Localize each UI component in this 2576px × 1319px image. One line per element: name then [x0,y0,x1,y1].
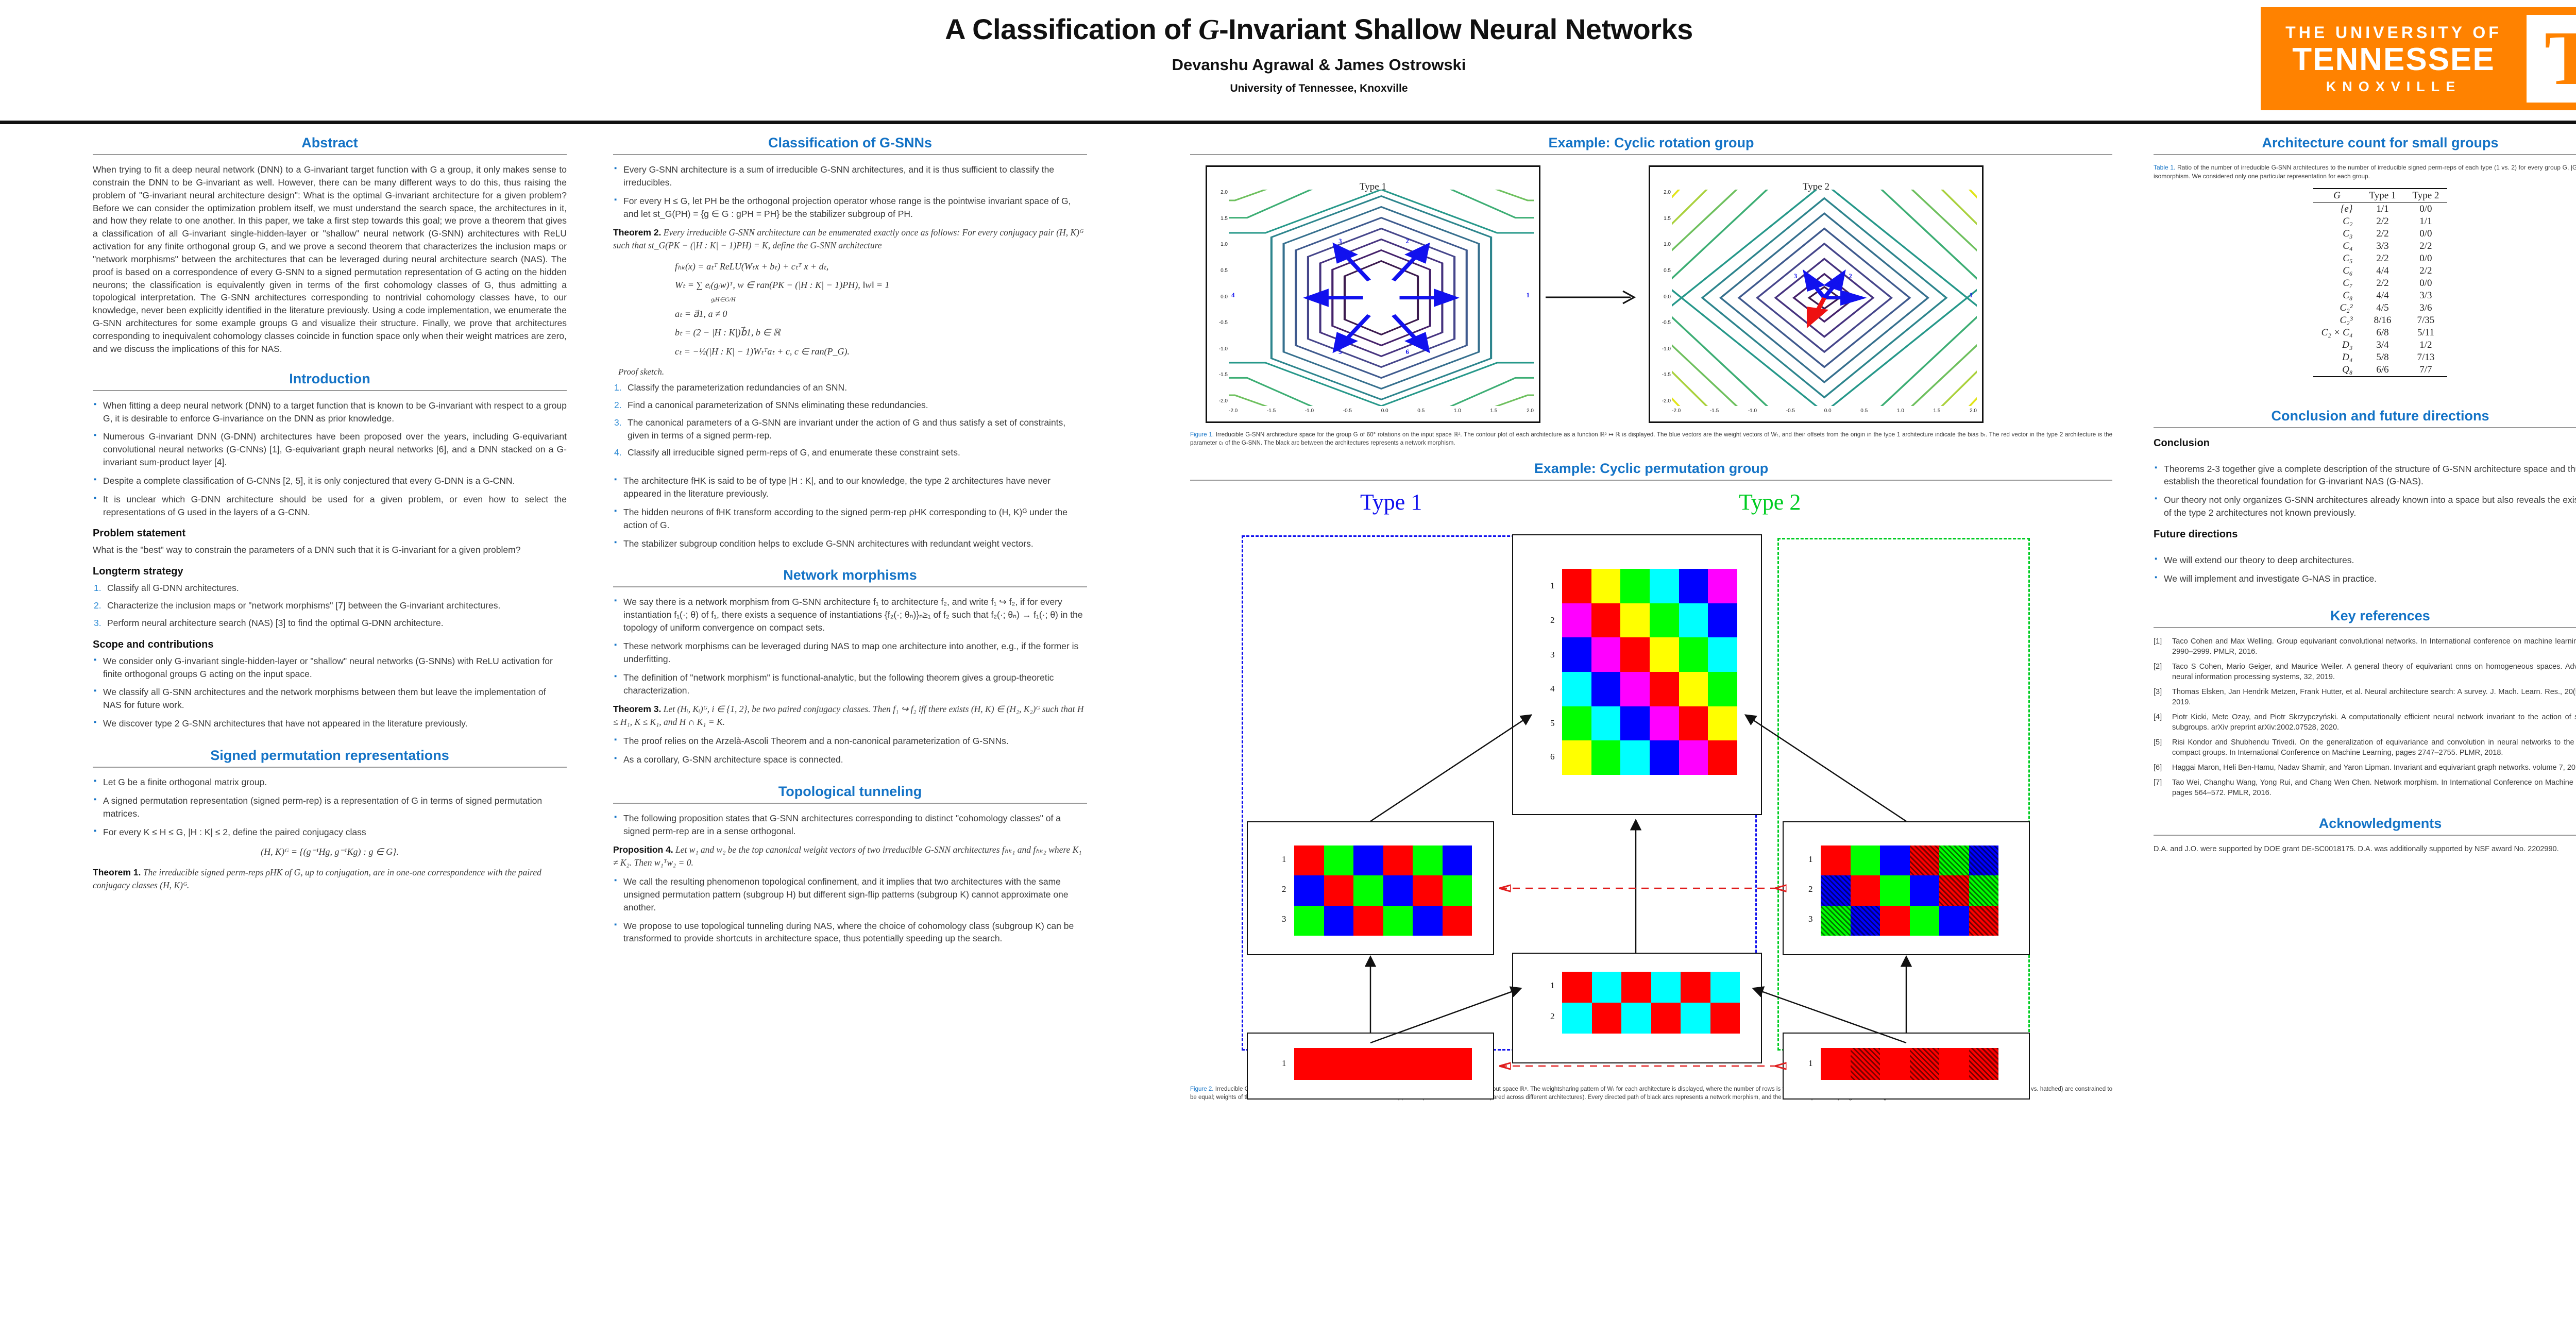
reference-item: [4]Piotr Kicki, Mete Ozay, and Piotr Skr… [2154,712,2576,733]
x-axis-ticks-plot-2: -2.0 -1.5 -1.0 -0.5 0.0 0.5 1.0 1.5 2.0 [1672,408,1977,416]
scope-bullets: We consider only G-invariant single-hidd… [93,655,567,730]
table-row: C₇2/20/0 [2313,277,2448,290]
divider [613,586,1087,587]
reference-list: [1]Taco Cohen and Max Welling. Group equ… [2154,636,2576,798]
logo-wordmark: THE UNIVERSITY OF TENNESSEE KNOXVILLE [2261,24,2527,94]
divider [613,803,1087,804]
theorem-3-text: Let (Hᵢ, Kᵢ)ᴳ, i ∈ {1, 2}, be two paired… [613,704,1083,727]
tunneling-bullets: The following proposition states that G-… [613,812,1087,838]
row-label: 1 [1282,854,1286,865]
subheading-problem-statement: Problem statement [93,528,567,539]
row-label: 2 [1550,615,1555,625]
row-label: 5 [1550,718,1555,729]
divider [2154,835,2576,836]
list-item: Classify the parameterization redundanci… [613,381,1087,394]
list-item: Numerous G-invariant DNN (G-DNN) archite… [93,430,567,469]
morphism-bullets: We say there is a network morphism from … [613,596,1087,697]
table-row: C₆4/42/2 [2313,265,2448,277]
column-header-g: G [2313,189,2361,203]
weight-grid-6x6 [1562,569,1737,775]
table-1-caption-text: Ratio of the number of irreducible G-SNN… [2154,164,2576,180]
list-item: We propose to use topological tunneling … [613,920,1087,945]
section-heading-cyclic-permutation: Example: Cyclic permutation group [1190,461,2112,477]
divider [93,154,567,155]
conclusion-bullets: Theorems 2-3 together give a complete de… [2154,463,2576,519]
weight-grid-1x6-right [1821,1048,1998,1080]
section-heading-conclusion: Conclusion and future directions [2154,408,2576,424]
section-heading-cyclic-rotation: Example: Cyclic rotation group [1190,135,2112,151]
reference-item: [6]Haggai Maron, Heli Ben-Hamu, Nadav Sh… [2154,763,2576,773]
list-item: When fitting a deep neural network (DNN)… [93,399,567,425]
architecture-box-left: 1 2 3 [1247,821,1494,955]
section-heading-topological-tunneling: Topological tunneling [613,784,1087,800]
vector-label-1: 1 [1970,291,1973,299]
classification-bullets: Every G-SNN architecture is a sum of irr… [613,163,1087,220]
list-item: Despite a complete classification of G-C… [93,475,567,487]
type-2-label: Type 2 [1739,489,1801,515]
divider [2154,427,2576,428]
title-group-symbol: G [1198,14,1219,46]
vector-label-2: 2 [1849,272,1852,280]
subheading-scope-and-contributions: Scope and contributions [93,639,567,651]
architecture-box-bottom-left: 1 [1247,1033,1494,1100]
equation-paired-conjugacy-class: (H, K)ᴳ = {(g⁻¹Hg, g⁻¹Kg) : g ∈ G}. [93,844,567,860]
vector-label-5: 5 [1338,348,1342,356]
y-axis-ticks-plot-2: 2.0 1.5 1.0 0.5 0.0 -0.5 -1.0 -1.5 -2.0 [1653,190,1671,404]
divider [93,390,567,391]
list-item: Our theory not only organizes G-SNN arch… [2154,494,2576,519]
section-heading-architecture-count: Architecture count for small groups [2154,135,2576,151]
list-item: Classify all G-DNN architectures. [93,582,567,595]
section-heading-classification: Classification of G-SNNs [613,135,1087,151]
proposition-4-text: Let w₁ and w₂ be the top canonical weigh… [613,844,1081,868]
table-row: C₃2/20/0 [2313,228,2448,240]
university-logo: THE UNIVERSITY OF TENNESSEE KNOXVILLE T [2261,7,2576,110]
column-header-type-1: Type 1 [2361,189,2404,203]
list-item: Characterize the inclusion maps or "netw… [93,599,567,612]
reference-item: [5]Risi Kondor and Shubhendu Trivedi. On… [2154,737,2576,758]
list-item: For every H ≤ G, let PH be the orthogona… [613,195,1087,221]
row-label: 1 [1808,1058,1813,1069]
weight-grid-3x6-right [1821,845,1998,936]
figure-1: Type 1 2.0 1.5 1.0 0.5 0.0 -0.5 -1.0 -1.… [1190,163,2112,427]
equation-w-star: Wₜ = ∑ eᵢ(gᵢw)ᵀ, w ∈ ran(PK − (|H : K| −… [675,277,1087,293]
architecture-box-bottom-right: 1 [1783,1033,2030,1100]
row-label: 3 [1808,914,1813,924]
column-3: Example: Cyclic rotation group Type 1 2.… [1190,135,2112,1102]
architecture-box-center: 1 2 [1512,953,1762,1063]
table-row: C₈4/43/3 [2313,290,2448,302]
row-label: 1 [1808,854,1813,865]
figure-1-caption: Figure 1. Irreducible G-SNN architecture… [1190,431,2112,447]
section-heading-acknowledgments: Acknowledgments [2154,816,2576,832]
row-label: 1 [1550,980,1555,991]
reference-item: [2]Taco S Cohen, Mario Geiger, and Mauri… [2154,662,2576,682]
network-morphism-arrow [1546,287,1643,308]
list-item: Theorems 2-3 together give a complete de… [2154,463,2576,488]
list-item: These network morphisms can be leveraged… [613,640,1087,666]
list-item: We will implement and investigate G-NAS … [2154,572,2576,585]
page-title: A Classification of G-Invariant Shallow … [0,12,2576,46]
theorem-1-label: Theorem 1. [93,867,141,877]
reference-item: [7]Tao Wei, Changhu Wang, Yong Rui, and … [2154,777,2576,798]
contour-plot-type-1: Type 1 2.0 1.5 1.0 0.5 0.0 -0.5 -1.0 -1.… [1206,165,1540,423]
theorem-2: Theorem 2. Every irreducible G-SNN archi… [613,226,1087,252]
section-heading-introduction: Introduction [93,371,567,387]
column-4: Architecture count for small groups Tabl… [2154,135,2576,854]
contour-curves-type-1: 1 2 3 4 5 6 [1229,190,1534,406]
signed-perm-bullets: Let G be a finite orthogonal matrix grou… [93,776,567,838]
figure-2: Type 1 Type 2 1 2 3 4 5 6 [1190,489,2112,1081]
list-item: Find a canonical parameterization of SNN… [613,399,1087,412]
architecture-box-right: 1 2 3 [1783,821,2030,955]
theorem-1-text: The irreducible signed perm-reps ρHK of … [93,867,541,890]
y-axis-ticks-plot-1: 2.0 1.5 1.0 0.5 0.0 -0.5 -1.0 -1.5 -2.0 [1210,190,1228,404]
equation-sum-subscript: gᵢH∈G/H [711,296,1087,303]
header-divider [0,121,2576,124]
proof-steps: Classify the parameterization redundanci… [613,381,1087,459]
list-item: Every G-SNN architecture is a sum of irr… [613,163,1087,189]
list-item: We call the resulting phenomenon topolog… [613,875,1087,914]
acknowledgments-text: D.A. and J.O. were supported by DOE gran… [2154,844,2576,854]
list-item: Classify all irreducible signed perm-rep… [613,446,1087,459]
list-item: The proof relies on the Arzelà-Ascoli Th… [613,735,1087,748]
list-item: It is unclear which G-DNN architecture s… [93,493,567,519]
classification-post-bullets: The architecture fHK is said to be of ty… [613,475,1087,550]
table-1-label: Table 1. [2154,164,2175,171]
row-label: 3 [1550,650,1555,660]
introduction-bullets: When fitting a deep neural network (DNN)… [93,399,567,519]
theorem-1: Theorem 1. The irreducible signed perm-r… [93,866,567,892]
reference-item: [3]Thomas Elsken, Jan Hendrik Metzen, Fr… [2154,687,2576,707]
weight-grid-1x6-left [1294,1048,1472,1080]
list-item: The definition of "network morphism" is … [613,671,1087,697]
weight-grid-2x6 [1562,972,1740,1034]
architecture-count-table: G Type 1 Type 2 {e}1/10/0 C₂2/21/1 C₃2/2… [2313,188,2448,377]
equation-a-star: aₜ = a⃗1, a ≠ 0 [675,306,1087,322]
list-item: The architecture fHK is said to be of ty… [613,475,1087,500]
table-row: C₂ × C₄6/85/11 [2313,327,2448,339]
list-item: We classify all G-SNN architectures and … [93,686,567,712]
divider [613,154,1087,155]
type-2-region [1777,538,2030,1051]
row-label: 2 [1808,884,1813,894]
equation-fhk: fₕₖ(x) = aₜᵀ ReLU(Wₜx + bₜ) + cₜᵀ x + dₜ… [675,258,1087,275]
section-heading-abstract: Abstract [93,135,567,151]
tunneling-post-bullets: We call the resulting phenomenon topolog… [613,875,1087,945]
column-2: Classification of G-SNNs Every G-SNN arc… [613,135,1087,951]
table-row: C₄3/32/2 [2313,240,2448,252]
logo-line-2: TENNESSEE [2261,44,2527,76]
table-row: C₅2/20/0 [2313,252,2448,265]
future-directions-bullets: We will extend our theory to deep archit… [2154,554,2576,585]
vector-label-2: 2 [1405,237,1409,245]
table-row: C₂³8/167/35 [2313,314,2448,327]
list-item: We say there is a network morphism from … [613,596,1087,634]
plot-title-type-1: Type 1 [1207,167,1539,193]
proposition-4: Proposition 4. Let w₁ and w₂ be the top … [613,843,1087,869]
reference-item: [1]Taco Cohen and Max Welling. Group equ… [2154,636,2576,657]
vector-label-3: 3 [1338,237,1342,245]
poster-header: A Classification of G-Invariant Shallow … [0,0,2576,120]
figure-2-label: Figure 2. [1190,1086,1213,1092]
table-row: C₂2/21/1 [2313,215,2448,228]
strategy-list: Classify all G-DNN architectures. Charac… [93,582,567,630]
section-heading-signed-perm-reps: Signed permutation representations [93,748,567,764]
vector-label-3: 3 [1794,272,1798,280]
contour-curves-type-2: 1 2 3 [1672,190,1977,406]
logo-power-t-icon: T [2527,15,2576,103]
logo-line-1: THE UNIVERSITY OF [2261,24,2527,41]
subheading-future-directions: Future directions [2154,529,2576,540]
problem-statement-text: What is the "best" way to constrain the … [93,544,567,556]
divider [2154,627,2576,628]
theorem-3-label: Theorem 3. [613,704,661,714]
row-label: 2 [1282,884,1286,894]
row-label: 2 [1550,1011,1555,1022]
vector-label-4: 4 [1231,291,1235,299]
equation-b-star: bₜ = (2 − |H : K|)b⃗1, b ∈ ℝ [675,324,1087,341]
table-1-caption: Table 1. Ratio of the number of irreduci… [2154,163,2576,181]
list-item: As a corollary, G-SNN architecture space… [613,753,1087,766]
theorem-2-text: Every irreducible G-SNN architecture can… [613,227,1083,250]
row-label: 1 [1282,1058,1286,1069]
list-item: The following proposition states that G-… [613,812,1087,838]
row-label: 1 [1550,581,1555,591]
table-row: Q₈6/67/7 [2313,364,2448,377]
list-item: We discover type 2 G-SNN architectures t… [93,717,567,730]
abstract-text: When trying to fit a deep neural network… [93,163,567,356]
architecture-box-top-center: 1 2 3 4 5 6 [1512,534,1762,815]
theorem-3: Theorem 3. Let (Hᵢ, Kᵢ)ᴳ, i ∈ {1, 2}, be… [613,703,1087,729]
column-1: Abstract When trying to fit a deep neura… [93,135,567,898]
row-label: 3 [1282,914,1286,924]
affiliation: University of Tennessee, Knoxville [0,82,2576,95]
weight-grid-3x6-left [1294,845,1472,936]
row-label: 6 [1550,752,1555,762]
subheading-conclusion: Conclusion [2154,437,2576,449]
list-item: We consider only G-invariant single-hidd… [93,655,567,681]
divider [93,767,567,768]
table-row: C₂²4/53/6 [2313,302,2448,314]
list-item: We will extend our theory to deep archit… [2154,554,2576,567]
proposition-4-label: Proposition 4. [613,844,673,855]
table-row: D₄5/87/13 [2313,351,2448,364]
list-item: A signed permutation representation (sig… [93,794,567,820]
contour-plot-type-2: Type 2 2.0 1.5 1.0 0.5 0.0 -0.5 -1.0 -1.… [1649,165,1984,423]
subheading-longterm-strategy: Longterm strategy [93,566,567,578]
x-axis-ticks-plot-1: -2.0 -1.5 -1.0 -0.5 0.0 0.5 1.0 1.5 2.0 [1229,408,1534,416]
author-list: Devanshu Agrawal & James Ostrowski [0,56,2576,74]
equation-c-star: cₜ = −½(|H : K| − 1)Wₜᵀaₜ + c, c ∈ ran(P… [675,343,1087,360]
figure-1-label: Figure 1. [1190,432,1214,438]
divider [1190,154,2112,155]
divider [1190,480,2112,481]
vector-label-1: 1 [1527,291,1530,299]
theorem-2-label: Theorem 2. [613,227,661,238]
list-item: Let G be a finite orthogonal matrix grou… [93,776,567,789]
list-item: For every K ≤ H ≤ G, |H : K| ≤ 2, define… [93,826,567,839]
plot-title-type-2: Type 2 [1650,167,1982,193]
morphism-post-bullets: The proof relies on the Arzelà-Ascoli Th… [613,735,1087,766]
logo-line-3: KNOXVILLE [2261,80,2527,94]
column-header-type-2: Type 2 [2404,189,2447,203]
proof-sketch-label: Proof sketch. [618,367,1087,377]
section-heading-network-morphisms: Network morphisms [613,567,1087,583]
list-item: The hidden neurons of fHK transform acco… [613,506,1087,532]
vector-label-6: 6 [1405,348,1409,356]
row-label: 4 [1550,684,1555,694]
section-heading-references: Key references [2154,608,2576,624]
table-row: D₃3/41/2 [2313,339,2448,351]
list-item: The stabilizer subgroup condition helps … [613,537,1087,550]
divider [2154,154,2576,155]
figure-1-caption-text: Irreducible G-SNN architecture space for… [1190,432,2112,446]
type-1-label: Type 1 [1360,489,1422,515]
list-item: Perform neural architecture search (NAS)… [93,617,567,630]
list-item: The canonical parameters of a G-SNN are … [613,416,1087,442]
table-row: {e}1/10/0 [2313,202,2448,215]
